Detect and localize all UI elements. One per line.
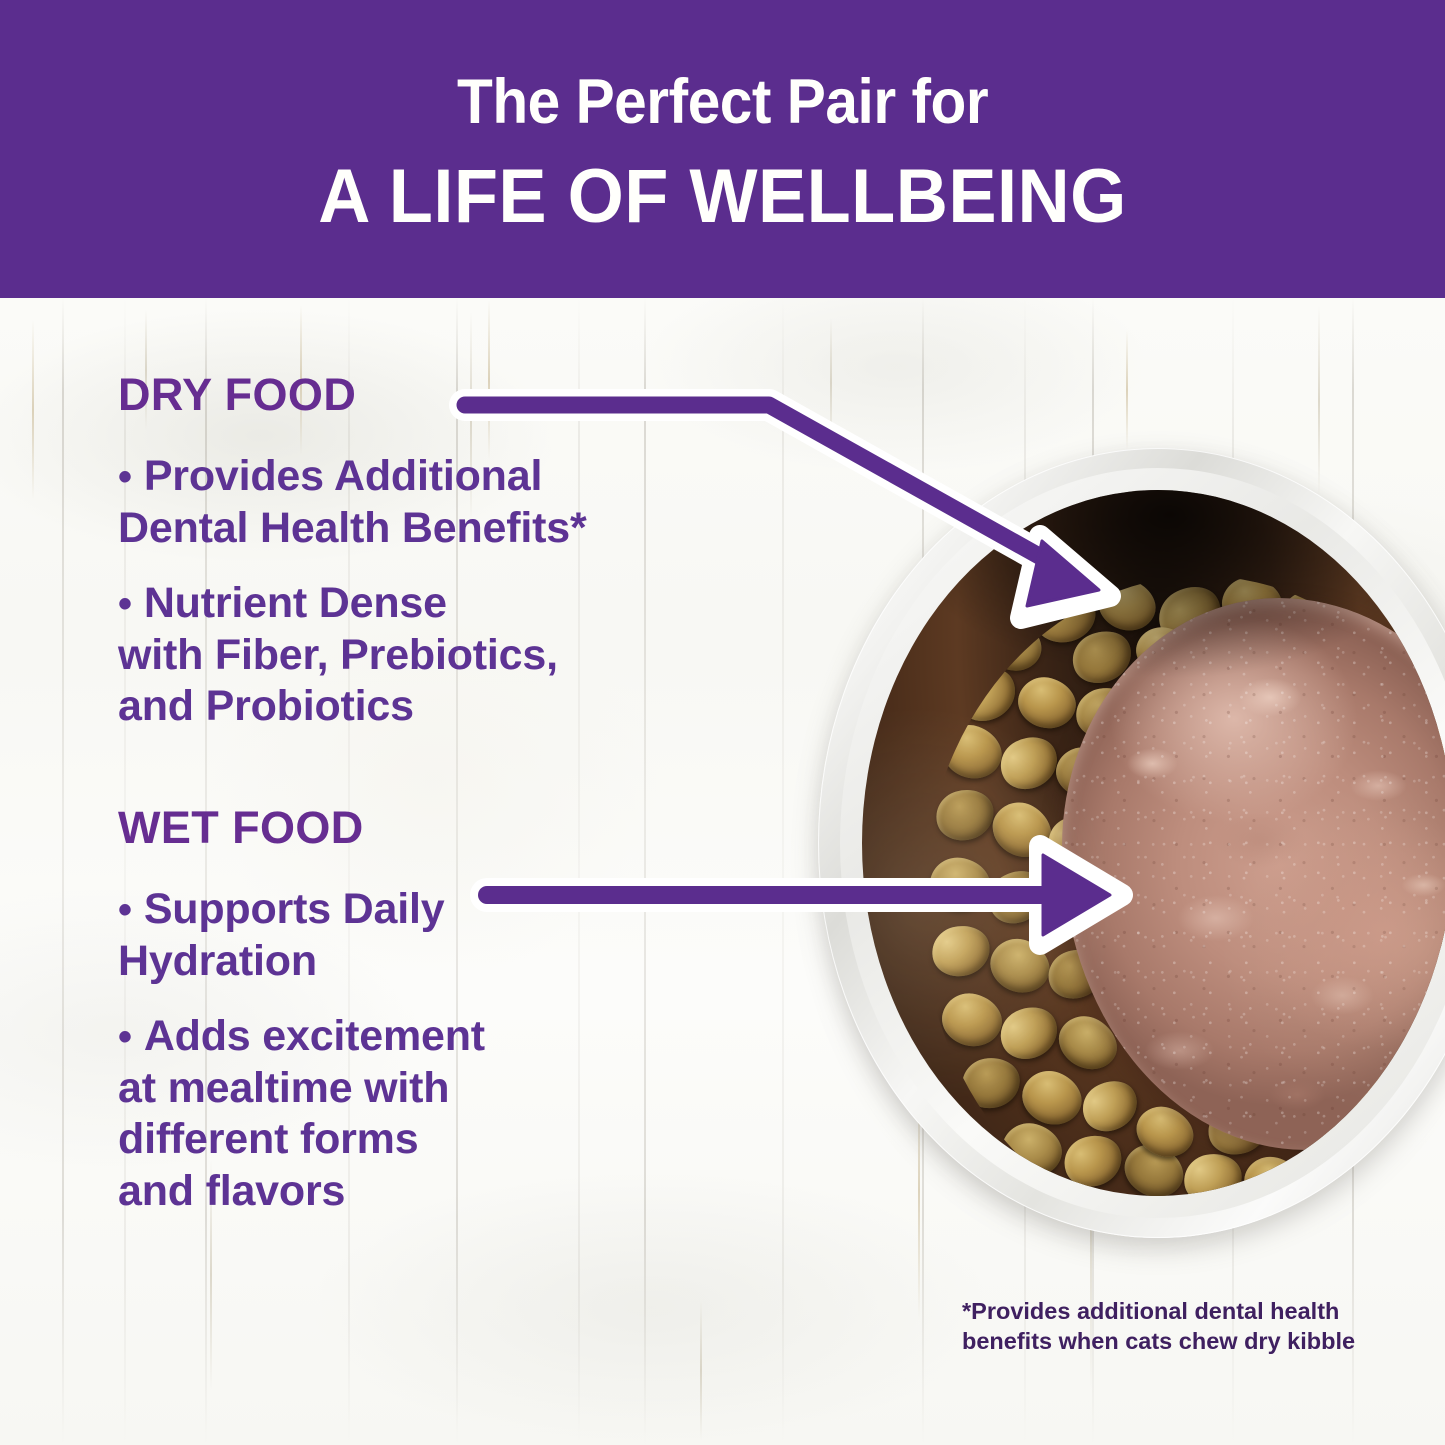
- bullet-line: Nutrient Dense: [144, 579, 447, 627]
- bullet-item: •Provides Additional Dental Health Benef…: [118, 451, 778, 554]
- header-title-line1: The Perfect Pair for: [457, 69, 988, 135]
- wood-grain-streak: [1126, 330, 1128, 450]
- bullet-glyph: •: [118, 582, 132, 626]
- dry-kibble-bed: [922, 576, 1445, 1196]
- section-wet-food: WET FOOD •Supports Daily Hydration •Adds…: [118, 805, 778, 1218]
- header-banner: The Perfect Pair for A LIFE OF WELLBEING: [0, 0, 1445, 298]
- section-dry-food: DRY FOOD •Provides Additional Dental Hea…: [118, 372, 778, 733]
- wet-food-pate-mound: [1062, 598, 1445, 1150]
- wood-grain-streak: [700, 1300, 702, 1440]
- bullet-glyph: •: [118, 888, 132, 932]
- bowl-interior: [862, 490, 1445, 1196]
- bullet-glyph: •: [118, 455, 132, 499]
- bullet-line: different forms: [118, 1115, 418, 1163]
- plank-seam: [62, 298, 64, 1445]
- footnote-disclaimer: *Provides additional dental health benef…: [962, 1296, 1382, 1356]
- bullet-line: and flavors: [118, 1167, 345, 1215]
- bullet-glyph: •: [118, 1015, 132, 1059]
- cat-food-bowl-photo: [818, 434, 1445, 1254]
- wood-grain-streak: [830, 318, 832, 448]
- bullet-list-wet-food: •Supports Daily Hydration •Adds exciteme…: [118, 884, 778, 1218]
- bullet-list-dry-food: •Provides Additional Dental Health Benef…: [118, 451, 778, 733]
- footnote-line: *Provides additional dental health: [962, 1296, 1382, 1326]
- bullet-line: at mealtime with: [118, 1064, 449, 1112]
- infographic-canvas: The Perfect Pair for A LIFE OF WELLBEING…: [0, 0, 1445, 1445]
- wood-grain-streak: [32, 320, 34, 500]
- bullet-line: Adds excitement: [144, 1012, 485, 1060]
- bullet-line: and Probiotics: [118, 682, 414, 730]
- bullet-line: Supports Daily: [144, 885, 445, 933]
- bullet-line: Provides Additional: [144, 452, 542, 500]
- bullet-line: Dental Health Benefits*: [118, 504, 587, 552]
- benefits-copy-column: DRY FOOD •Provides Additional Dental Hea…: [118, 372, 778, 1242]
- bullet-item: •Supports Daily Hydration: [118, 884, 778, 987]
- footnote-line: benefits when cats chew dry kibble: [962, 1326, 1382, 1356]
- bullet-item: •Nutrient Dense with Fiber, Prebiotics, …: [118, 578, 778, 733]
- plank-seam: [782, 298, 784, 1445]
- section-heading-dry-food: DRY FOOD: [118, 372, 778, 417]
- section-heading-wet-food: WET FOOD: [118, 805, 778, 850]
- bullet-line: with Fiber, Prebiotics,: [118, 631, 558, 679]
- bullet-item: •Adds excitement at mealtime with differ…: [118, 1011, 778, 1217]
- header-title-line2: A LIFE OF WELLBEING: [318, 157, 1127, 237]
- bullet-line: Hydration: [118, 937, 317, 985]
